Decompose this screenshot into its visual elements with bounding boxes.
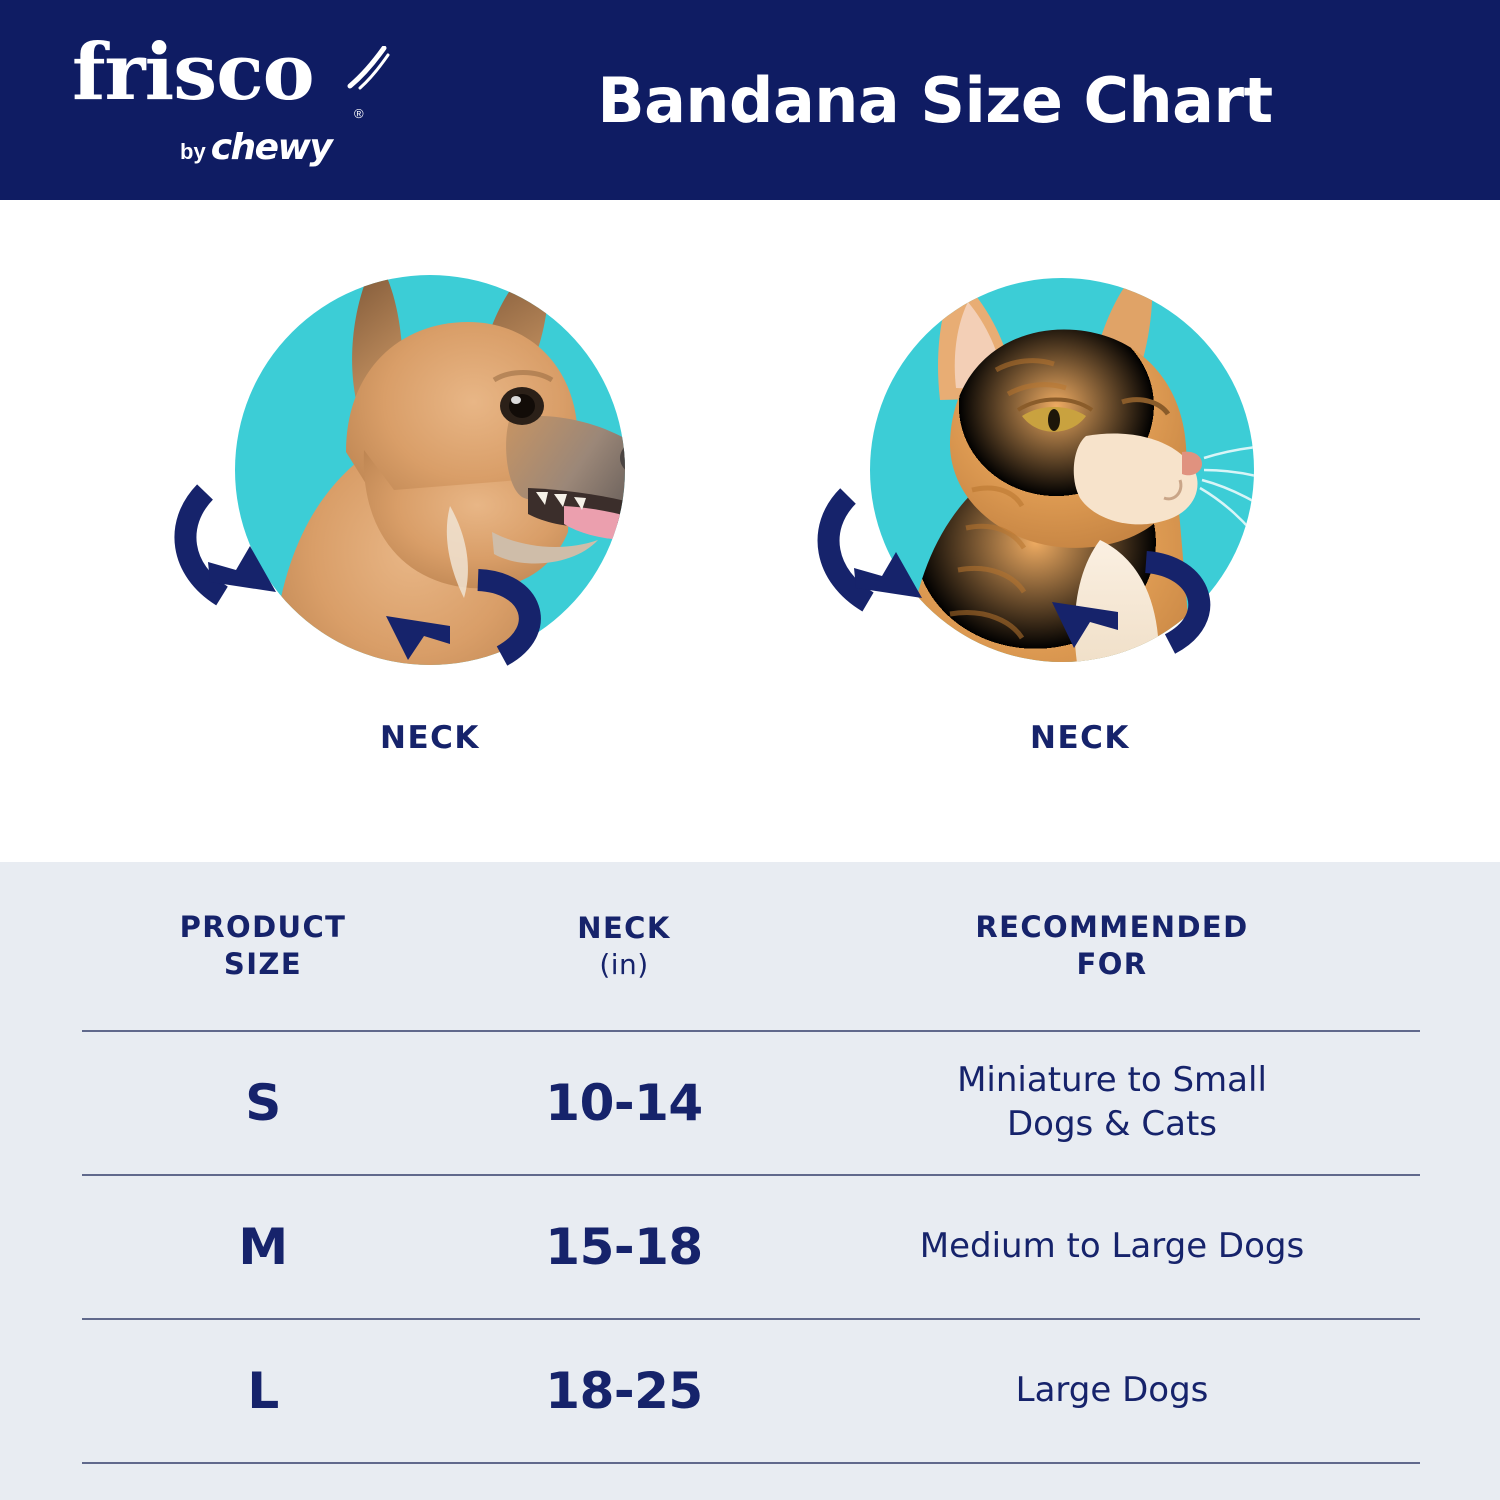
logo-swoosh-icon bbox=[344, 46, 392, 92]
header-cell-neck: NECK (in) bbox=[444, 910, 804, 983]
header-neck-line1: NECK bbox=[577, 911, 670, 945]
header-neck-unit: (in) bbox=[577, 947, 670, 983]
size-table-area: PRODUCT SIZE NECK (in) RECOMMENDED FOR bbox=[0, 862, 1500, 1500]
table-row: S 10-14 Miniature to Small Dogs & Cats bbox=[82, 1032, 1420, 1174]
cat-head-icon bbox=[800, 240, 1360, 690]
size-table: PRODUCT SIZE NECK (in) RECOMMENDED FOR bbox=[82, 862, 1420, 1464]
table-divider-bottom bbox=[82, 1462, 1420, 1464]
header-cell-product-size: PRODUCT SIZE bbox=[82, 909, 444, 983]
row-neck-value: 10-14 bbox=[545, 1074, 702, 1132]
header-recommended-line1: RECOMMENDED bbox=[975, 910, 1248, 944]
page-title: Bandana Size Chart bbox=[420, 0, 1500, 200]
logo-chewy-text: chewy bbox=[211, 127, 332, 168]
row-recommended-cell: Medium to Large Dogs bbox=[804, 1225, 1420, 1269]
dog-measurement-illustration: NECK bbox=[150, 200, 710, 862]
row-recommended-line2: Dogs & Cats bbox=[1007, 1104, 1217, 1144]
row-size-cell: S bbox=[82, 1074, 444, 1132]
row-recommended-line1: Large Dogs bbox=[1016, 1370, 1209, 1410]
row-size-value: L bbox=[247, 1362, 278, 1420]
size-chart-page: frisco ® bychewy Bandana Size Chart bbox=[0, 0, 1500, 1500]
table-divider bbox=[82, 1174, 1420, 1176]
row-neck-cell: 15-18 bbox=[444, 1218, 804, 1276]
page-title-text: Bandana Size Chart bbox=[597, 64, 1272, 137]
frisco-logo: frisco ® bychewy bbox=[72, 34, 372, 164]
logo-wordmark: frisco bbox=[72, 34, 314, 112]
row-neck-cell: 18-25 bbox=[444, 1362, 804, 1420]
header-band: frisco ® bychewy Bandana Size Chart bbox=[0, 0, 1500, 200]
dog-head-icon bbox=[150, 240, 710, 690]
row-neck-value: 15-18 bbox=[545, 1218, 702, 1276]
table-divider bbox=[82, 1318, 1420, 1320]
dog-stage bbox=[150, 240, 710, 690]
row-size-cell: L bbox=[82, 1362, 444, 1420]
row-neck-value: 18-25 bbox=[545, 1362, 702, 1420]
header-recommended-line2: FOR bbox=[1076, 947, 1147, 981]
row-recommended-line1: Medium to Large Dogs bbox=[920, 1226, 1304, 1266]
table-row: L 18-25 Large Dogs bbox=[82, 1320, 1420, 1462]
logo-byline: bychewy bbox=[180, 130, 331, 166]
row-neck-cell: 10-14 bbox=[444, 1074, 804, 1132]
row-size-value: M bbox=[238, 1218, 287, 1276]
table-header-row: PRODUCT SIZE NECK (in) RECOMMENDED FOR bbox=[82, 862, 1420, 1030]
header-product-size-line1: PRODUCT bbox=[180, 910, 347, 944]
cat-neck-label: NECK bbox=[800, 720, 1360, 756]
table-divider bbox=[82, 1030, 1420, 1032]
logo-by-text: by bbox=[180, 139, 206, 164]
registered-trademark-icon: ® bbox=[354, 106, 364, 121]
dog-neck-label: NECK bbox=[150, 720, 710, 756]
row-size-cell: M bbox=[82, 1218, 444, 1276]
row-recommended-cell: Miniature to Small Dogs & Cats bbox=[804, 1059, 1420, 1146]
header-product-size-line2: SIZE bbox=[224, 947, 302, 981]
row-size-value: S bbox=[245, 1074, 281, 1132]
table-row: M 15-18 Medium to Large Dogs bbox=[82, 1176, 1420, 1318]
cat-stage bbox=[800, 240, 1360, 690]
illustration-area: NECK bbox=[0, 200, 1500, 862]
cat-measurement-illustration: NECK bbox=[800, 200, 1360, 862]
row-recommended-line1: Miniature to Small bbox=[957, 1060, 1267, 1100]
row-recommended-cell: Large Dogs bbox=[804, 1369, 1420, 1413]
header-cell-recommended-for: RECOMMENDED FOR bbox=[804, 909, 1420, 983]
